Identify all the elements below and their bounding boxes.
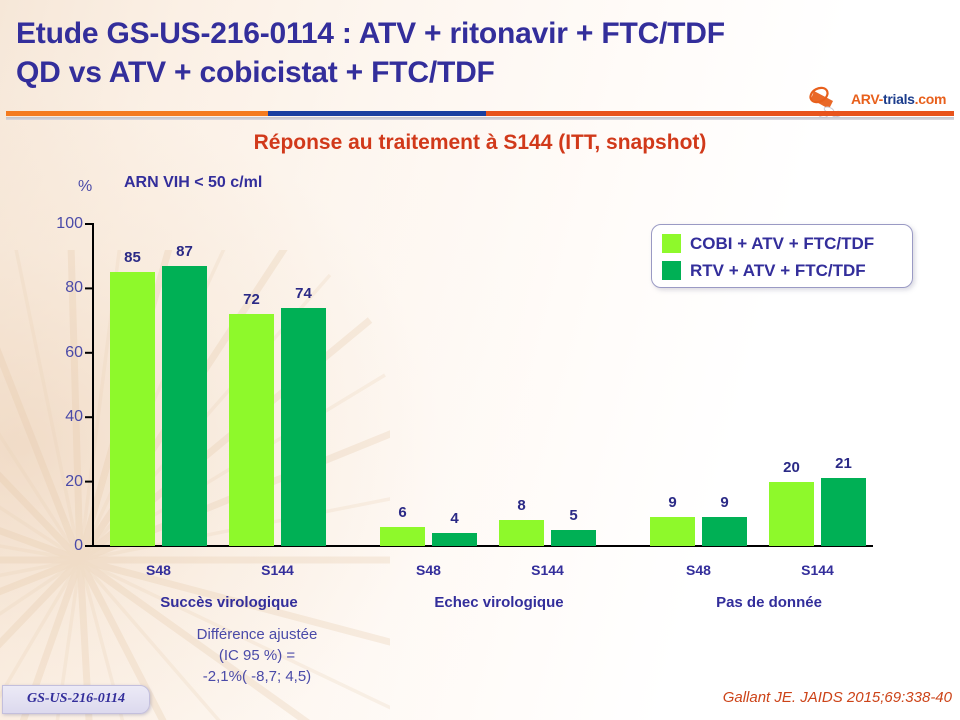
bar-value-label: 9	[650, 494, 695, 511]
logo-text-trials: trials	[883, 91, 915, 107]
divider-segment-blue	[268, 111, 486, 116]
x-axis-group-label: Echec virologique	[389, 594, 609, 611]
bar-cobi-s144-1[interactable]	[499, 520, 544, 546]
study-id-badge: GS-US-216-0114	[2, 685, 150, 714]
y-axis-tick-label: 100	[35, 215, 83, 233]
chart-title: ARN VIH < 50 c/ml	[124, 174, 262, 192]
bar-rtv-s48-1[interactable]	[432, 533, 477, 546]
x-axis-tick-label: S144	[768, 562, 868, 578]
logo-wordmark: ARV-trials.com	[851, 91, 946, 107]
bar-value-label: 5	[551, 507, 596, 524]
title-line-1: Etude GS-US-216-0114 : ATV + ritonavir +…	[16, 14, 836, 53]
title-line-2: QD vs ATV + cobicistat + FTC/TDF	[16, 53, 836, 92]
legend-label-cobi: COBI + ATV + FTC/TDF	[690, 234, 874, 254]
legend-item-0[interactable]: COBI + ATV + FTC/TDF	[662, 230, 902, 257]
y-axis-unit-label: %	[78, 178, 92, 196]
logo-text-arv: ARV-	[851, 91, 883, 107]
x-axis-group-label: Succès virologique	[119, 594, 339, 611]
bar-rtv-s144-2[interactable]	[821, 478, 866, 546]
bar-value-label: 4	[432, 510, 477, 527]
bar-rtv-s144-1[interactable]	[551, 530, 596, 546]
bar-value-label: 74	[281, 285, 326, 302]
bar-value-label: 20	[769, 459, 814, 476]
bar-value-label: 87	[162, 243, 207, 260]
bar-value-label: 8	[499, 497, 544, 514]
bar-value-label: 72	[229, 291, 274, 308]
bar-cobi-s144-0[interactable]	[229, 314, 274, 546]
x-axis-tick-label: S48	[649, 562, 749, 578]
legend-swatch-rtv	[662, 261, 681, 280]
bar-value-label: 9	[702, 494, 747, 511]
x-axis-tick-label: S144	[228, 562, 328, 578]
header-divider	[0, 111, 960, 120]
legend-swatch-cobi	[662, 234, 681, 253]
slide-subtitle: Réponse au traitement à S144 (ITT, snaps…	[0, 131, 960, 155]
y-axis-tick-label: 20	[35, 473, 83, 491]
x-axis-group-label: Pas de donnée	[659, 594, 879, 611]
legend-label-rtv: RTV + ATV + FTC/TDF	[690, 261, 866, 281]
bar-cobi-s144-2[interactable]	[769, 482, 814, 546]
x-axis-tick-label: S144	[498, 562, 598, 578]
page-title: Etude GS-US-216-0114 : ATV + ritonavir +…	[16, 14, 836, 92]
x-axis-tick-label: S48	[109, 562, 209, 578]
y-axis-tick-label: 60	[35, 344, 83, 362]
bar-cobi-s48-2[interactable]	[650, 517, 695, 546]
bar-value-label: 85	[110, 249, 155, 266]
divider-shadow	[6, 117, 954, 120]
bar-rtv-s48-0[interactable]	[162, 266, 207, 546]
adjusted-difference-note: Différence ajustée (IC 95 %) = -2,1%( -8…	[122, 624, 392, 687]
x-axis-tick-label: S48	[379, 562, 479, 578]
chart-legend[interactable]: COBI + ATV + FTC/TDF RTV + ATV + FTC/TDF	[651, 224, 913, 288]
legend-item-1[interactable]: RTV + ATV + FTC/TDF	[662, 257, 902, 284]
bar-value-label: 21	[821, 455, 866, 472]
footnote-line-1: Différence ajustée	[122, 624, 392, 645]
bar-value-label: 6	[380, 504, 425, 521]
bar-rtv-s144-0[interactable]	[281, 308, 326, 546]
footnote-line-3: -2,1%( -8,7; 4,5)	[122, 666, 392, 687]
logo-text-com: .com	[915, 91, 946, 107]
y-axis-tick-label: 0	[35, 537, 83, 555]
bar-cobi-s48-1[interactable]	[380, 527, 425, 546]
slide-canvas: Etude GS-US-216-0114 : ATV + ritonavir +…	[0, 0, 960, 720]
citation-reference: Gallant JE. JAIDS 2015;69:338-40	[723, 689, 952, 706]
divider-segment-red	[486, 111, 954, 116]
y-axis-tick-label: 40	[35, 408, 83, 426]
divider-segment-orange	[6, 111, 268, 116]
bar-cobi-s48-0[interactable]	[110, 272, 155, 546]
bar-rtv-s48-2[interactable]	[702, 517, 747, 546]
y-axis-tick-label: 80	[35, 279, 83, 297]
footnote-line-2: (IC 95 %) =	[122, 645, 392, 666]
